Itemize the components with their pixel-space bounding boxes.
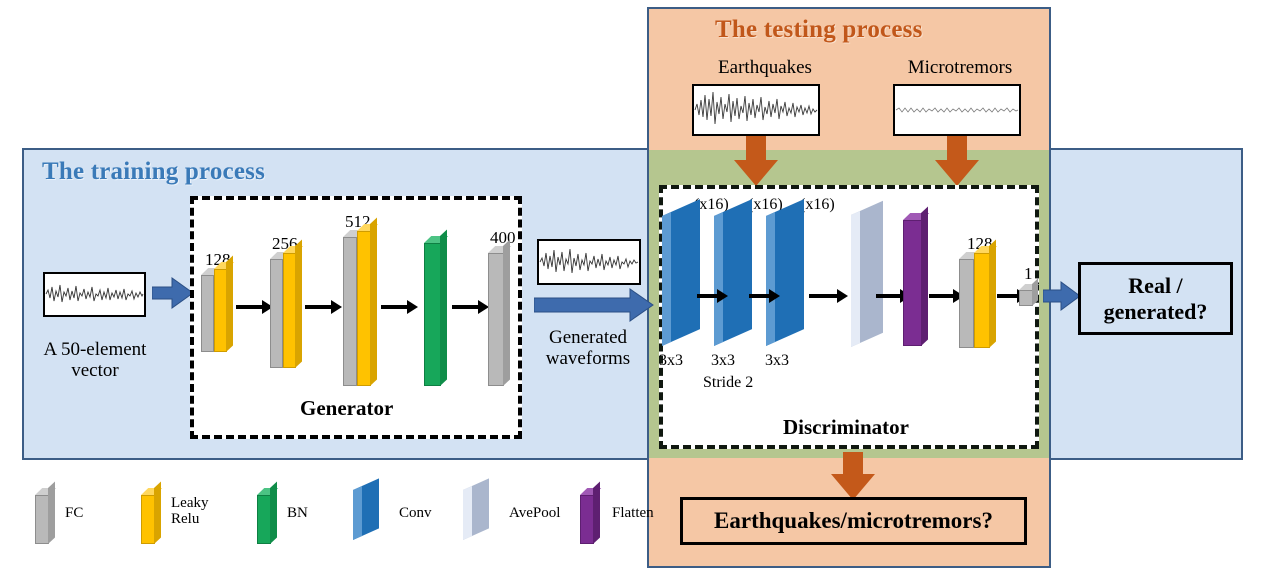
discriminator-fc-128-gray: [959, 252, 974, 348]
earthquakes-microtremors-text: Earthquakes/microtremors?: [714, 508, 993, 534]
arrow-conv3-avepool: [809, 294, 839, 298]
arrow-microtremors-to-discriminator: [935, 136, 979, 186]
noise-vector-caption-line1: A 50-element: [20, 340, 170, 361]
legend-conv-swatch: [353, 490, 379, 540]
training-process-title: The training process: [42, 158, 265, 186]
discriminator-units-1: 1: [1024, 264, 1033, 284]
generator-leaky-512: [357, 224, 371, 386]
conv-stride-label: Stride 2: [703, 374, 753, 392]
legend-fc-swatch: [35, 488, 49, 544]
discriminator-fc-1: [1019, 284, 1033, 306]
legend-conv-label: Conv: [399, 506, 432, 522]
legend-flatten-swatch: [580, 488, 594, 544]
arrow-discriminator-to-classification: [829, 452, 877, 500]
earthquake-waveform-card: [692, 84, 820, 136]
conv-3-channels: (x16): [800, 196, 835, 214]
generated-waveform-card: [537, 239, 641, 285]
generator-label: Generator: [300, 396, 393, 421]
legend-fc-label: FC: [65, 506, 83, 522]
legend: FC Leaky Relu BN Conv AvePoo: [35, 484, 655, 546]
noise-vector-card: [43, 272, 146, 317]
legend-leaky-label-line1: Leaky: [171, 496, 235, 512]
noise-vector-waveform: [45, 274, 144, 315]
arrow-conv2-conv3: [749, 294, 771, 298]
arrow-earthquakes-to-discriminator: [734, 136, 778, 186]
testing-process-title: The testing process: [715, 16, 923, 44]
noise-vector-caption-line2: vector: [20, 361, 170, 382]
arrow-gen-2-3: [305, 305, 333, 309]
legend-avepool-label: AvePool: [509, 506, 560, 522]
legend-flatten-label: Flatten: [612, 506, 654, 522]
discriminator-leaky-128: [974, 246, 990, 348]
source-label-microtremors: Microtremors: [880, 58, 1040, 79]
microtremor-waveform-card: [893, 84, 1021, 136]
legend-leaky-label: Leaky Relu: [171, 496, 235, 528]
arrow-flatten-fc: [929, 294, 955, 298]
generator-leaky-256: [283, 246, 296, 368]
conv-3-kernel: 3x3: [765, 352, 789, 370]
conv-2-plate: [714, 216, 752, 346]
arrow-generated-to-discriminator: [534, 287, 654, 325]
arrow-discriminator-to-result: [1043, 281, 1081, 313]
generator-fc-128-gray: [201, 268, 214, 352]
conv-3-plate: [766, 216, 804, 346]
microtremor-waveform: [895, 86, 1019, 134]
legend-avepool-swatch: [463, 490, 489, 540]
conv-2-kernel: 3x3: [711, 352, 735, 370]
generator-fc-512-gray: [343, 230, 357, 386]
generator-bn: [424, 236, 441, 386]
legend-leaky-label-line2: Relu: [171, 512, 235, 528]
arrow-gen-4-5: [452, 305, 480, 309]
avepool-plate: [851, 215, 883, 347]
generated-waveforms-line1: Generated: [532, 328, 644, 349]
generated-waveforms-line2: waveforms: [532, 349, 644, 370]
noise-vector-caption: A 50-element vector: [20, 340, 170, 381]
generator-leaky-128: [214, 262, 227, 352]
conv-1-kernel: 3x3: [659, 352, 683, 370]
generated-waveforms-caption: Generated waveforms: [532, 328, 644, 369]
flatten-block: [903, 213, 922, 346]
legend-leaky-swatch: [141, 488, 155, 544]
legend-bn-label: BN: [287, 506, 308, 522]
legend-bn-swatch: [257, 488, 271, 544]
earthquakes-microtremors-result-box: Earthquakes/microtremors?: [680, 497, 1027, 545]
real-generated-line2: generated?: [1104, 299, 1208, 324]
arrow-avepool-flatten: [876, 294, 902, 298]
arrow-input-to-generator: [152, 276, 194, 312]
arrow-conv1-conv2: [697, 294, 719, 298]
generator-fc-400: [488, 246, 504, 386]
generator-fc-256-gray: [270, 252, 283, 368]
discriminator-label: Discriminator: [783, 415, 909, 440]
arrow-gen-1-2: [236, 305, 264, 309]
arrow-gen-3-4: [381, 305, 409, 309]
real-generated-result-box: Real / generated?: [1078, 262, 1233, 335]
earthquake-waveform: [694, 86, 818, 134]
source-label-earthquakes: Earthquakes: [690, 58, 840, 79]
real-generated-line1: Real /: [1104, 273, 1208, 298]
arrow-fc128-fc1: [997, 294, 1019, 298]
generated-waveform: [539, 241, 639, 283]
conv-1-plate: [662, 216, 700, 346]
